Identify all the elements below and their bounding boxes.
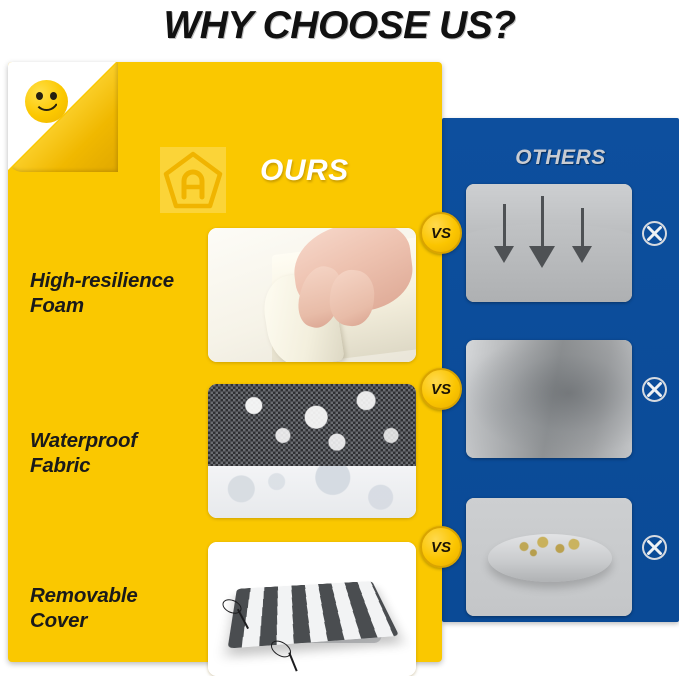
feature-label-line2: Cover (30, 608, 210, 633)
hand-pressing-foam-photo (208, 228, 416, 362)
wet-soaked-fabric-photo (466, 340, 632, 458)
feature-label-removable-cover: Removable Cover (30, 583, 210, 633)
circle-x-icon-row1 (641, 220, 668, 247)
stained-round-cushion-photo (466, 498, 632, 616)
ours-panel-title: OURS (260, 154, 349, 188)
vs-badge-row2: VS (420, 368, 462, 410)
feature-label-line2: Fabric (30, 453, 210, 478)
feature-label-waterproof-fabric: Waterproof Fabric (30, 428, 210, 478)
circle-x-icon-row3 (641, 534, 668, 561)
sagging-material-photo (466, 184, 632, 302)
vs-badge-row1: VS (420, 212, 462, 254)
smiley-face-icon (25, 80, 68, 123)
feature-label-line2: Foam (30, 293, 210, 318)
feature-label-line1: Waterproof (30, 428, 210, 453)
water-beading-fabric-photo (208, 384, 416, 518)
vs-badge-row3: VS (420, 526, 462, 568)
house-logo-icon (160, 147, 226, 213)
feature-label-line1: Removable (30, 583, 210, 608)
others-image-card-row2 (466, 340, 632, 458)
ours-image-card-row3 (208, 542, 416, 676)
feature-label-line1: High-resilience (30, 268, 210, 293)
ours-panel: OURS High-resilience Foam Waterproof Fab… (8, 62, 442, 662)
others-image-card-row3 (466, 498, 632, 616)
others-panel-title: OTHERS (442, 146, 679, 170)
page-title: WHY CHOOSE US? (0, 0, 679, 52)
striped-cushion-photo (208, 542, 416, 676)
circle-x-icon-row2 (641, 376, 668, 403)
ours-image-card-row1 (208, 228, 416, 362)
ours-image-card-row2 (208, 384, 416, 518)
feature-label-high-resilience-foam: High-resilience Foam (30, 268, 210, 318)
others-image-card-row1 (466, 184, 632, 302)
